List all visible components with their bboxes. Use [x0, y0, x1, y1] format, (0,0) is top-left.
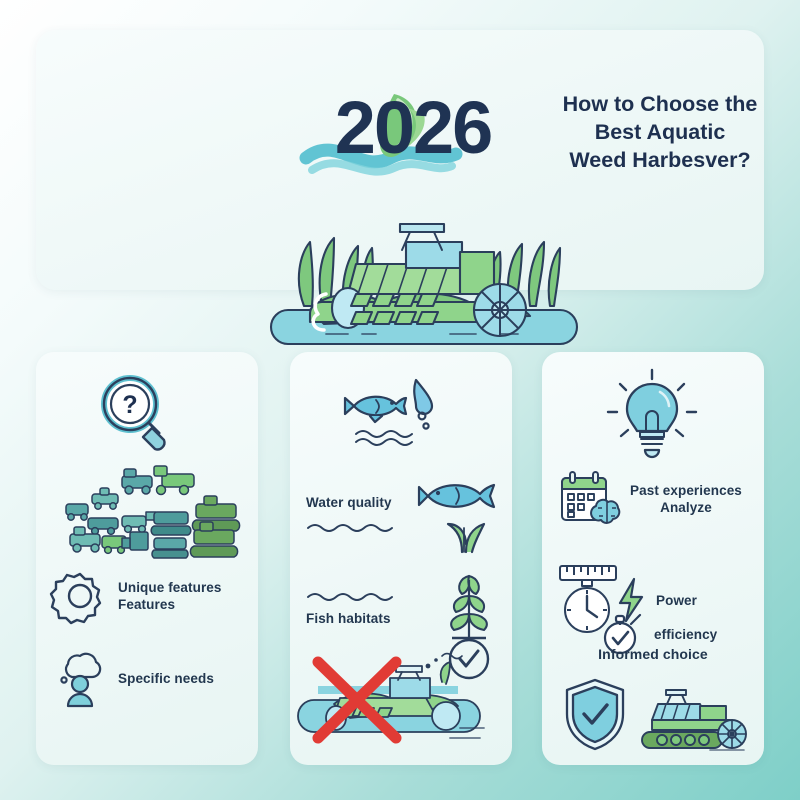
list-item-sublabel: Features	[118, 596, 222, 613]
harvester-icon	[640, 676, 748, 752]
title-line-3: Weed Harbesver?	[544, 146, 776, 174]
fish-waterdrop-waves-icon	[346, 372, 456, 454]
list-item-label: Fish habitats	[306, 610, 416, 627]
aquatic-weed-harvester-icon	[264, 198, 584, 353]
title-line-1: How to Choose the	[544, 90, 776, 118]
list-item-label: efficiency	[654, 626, 717, 643]
svg-text:?: ?	[122, 391, 137, 419]
page-title: How to Choose the Best Aquatic Weed Harb…	[544, 90, 776, 174]
list-item: Fish habitats	[306, 570, 502, 644]
list-item: Past experiences Analyze	[556, 468, 756, 530]
fish-plant-icon	[422, 474, 502, 554]
list-item-label: Unique features	[118, 579, 222, 596]
gear-icon	[54, 570, 106, 622]
check-circle-icon	[446, 636, 492, 682]
wave-line-icon	[306, 588, 406, 604]
footer-label: Informed choice	[542, 646, 764, 663]
list-item: Specific needs	[54, 650, 254, 706]
harvester-rejected-group	[300, 642, 502, 752]
calendar-brain-icon	[556, 468, 622, 530]
list-item-label: Power	[656, 592, 697, 609]
infographic-canvas: 2026 How to Choose the Best Aquatic Weed…	[0, 0, 800, 800]
shield-check-icon	[562, 676, 628, 752]
magnifier-question-icon: ?	[94, 370, 180, 456]
footer-icons	[562, 674, 748, 754]
card-environment: Water quality	[290, 352, 512, 765]
list-item-label: Water quality	[306, 494, 410, 511]
header-card: 2026 How to Choose the Best Aquatic Weed…	[36, 30, 764, 290]
footer-label-text: Informed choice	[542, 646, 764, 663]
wave-line-icon	[306, 519, 406, 535]
list-item-label: Past experiences	[630, 482, 742, 499]
list-item-sublabel: Analyze	[630, 499, 742, 516]
lightbulb-icon	[604, 368, 700, 458]
water-plant-icon	[436, 570, 502, 644]
card-decide: Past experiences Analyze Power	[542, 352, 764, 765]
title-line-2: Best Aquatic	[544, 118, 776, 146]
person-thought-icon	[54, 650, 106, 706]
card-identify-needs: ?	[36, 352, 258, 765]
list-item: Water quality	[306, 474, 502, 554]
logo-year-text: 2026	[298, 78, 528, 178]
list-item-label: Specific needs	[118, 670, 214, 687]
list-item: Unique features Features	[54, 570, 254, 622]
year-logo: 2026	[298, 78, 528, 188]
machine-fleet-cluster-icon	[58, 460, 244, 556]
